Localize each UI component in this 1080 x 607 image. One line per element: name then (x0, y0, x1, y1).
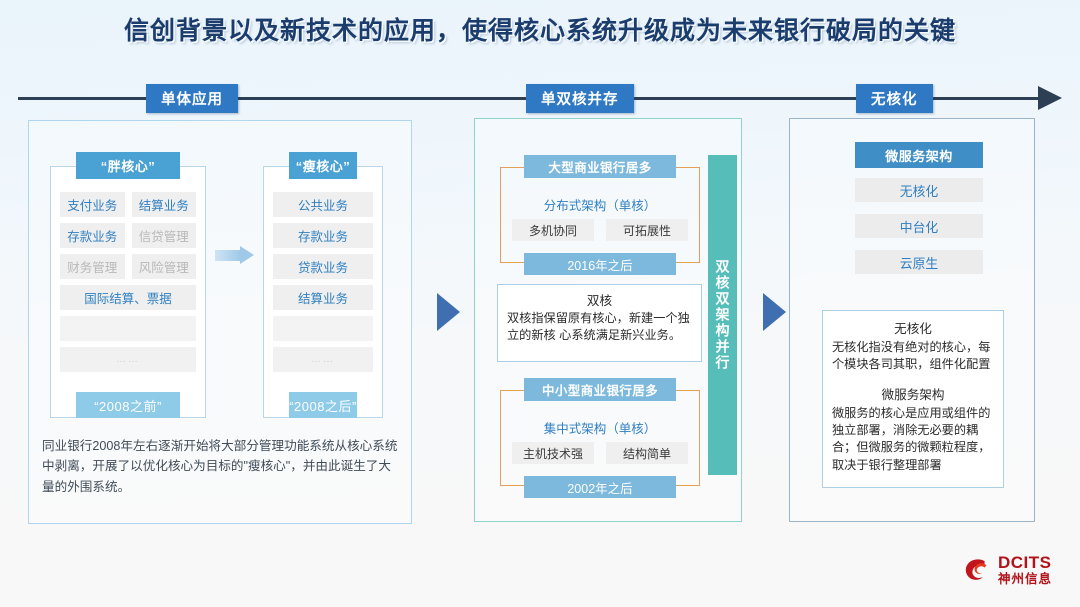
slide-title-bar: 信创背景以及新技术的应用，使得核心系统升级成为未来银行破局的关键 (0, 8, 1080, 50)
thin-core-row: 公共业务 (273, 192, 373, 217)
small-bank-subtitle: 集中式架构（单核） (500, 418, 700, 437)
thin-core-head: “瘦核心” (289, 152, 357, 179)
thin-core-cell: 公共业务 (273, 192, 373, 217)
fat-core-row: …… (60, 347, 196, 372)
no-core-note: 无核化 无核化指没有绝对的核心，每个模块各司其职，组件化配置 微服务架构 微服务… (822, 310, 1004, 488)
microservice-list: 无核化 中台化 云原生 (855, 178, 983, 274)
small-bank-pill: 主机技术强 (512, 442, 594, 464)
no-core-note-title: 无核化 (832, 318, 994, 337)
timeline-stage-3[interactable]: 无核化 (856, 84, 933, 113)
timeline-stage-2[interactable]: 单双核并存 (526, 84, 634, 113)
logo-text: DCITS 神州信息 (998, 554, 1052, 586)
logo-cn: 神州信息 (998, 573, 1052, 586)
large-bank-block: 大型商业银行居多 分布式架构（单核） 多机协同 可拓展性 2016年之后 (500, 155, 700, 275)
thin-core-body: 公共业务 存款业务 贷款业务 结算业务 …… (273, 192, 373, 372)
fat-core-row: 财务管理 风险管理 (60, 254, 196, 279)
thin-core-card: “瘦核心” 公共业务 存款业务 贷款业务 结算业务 …… “2008之后” (263, 152, 383, 418)
fat-core-head: “胖核心” (76, 152, 180, 179)
fat-to-thin-arrow-icon (215, 246, 255, 264)
page-title: 信创背景以及新技术的应用，使得核心系统升级成为未来银行破局的关键 (124, 11, 956, 47)
thin-core-foot: “2008之后” (289, 392, 357, 418)
dcits-swirl-icon (963, 555, 993, 585)
large-bank-head: 大型商业银行居多 (524, 155, 676, 178)
thin-core-row: 结算业务 (273, 285, 373, 310)
timeline: 单体应用 单双核并存 无核化 (18, 86, 1062, 112)
fat-core-cell: 结算业务 (132, 192, 197, 217)
thin-core-cell: 结算业务 (273, 285, 373, 310)
thin-core-cell-ellipsis: …… (273, 347, 373, 372)
thin-core-row: 贷款业务 (273, 254, 373, 279)
fat-core-cell-blank (60, 316, 196, 341)
list-item: 无核化 (855, 178, 983, 202)
small-bank-block: 中小型商业银行居多 集中式架构（单核） 主机技术强 结构简单 2002年之后 (500, 378, 700, 498)
thin-core-cell: 存款业务 (273, 223, 373, 248)
microservice-note-body: 微服务的核心是应用或组件的独立部署，消除无必要的耦合；但微服务的微颗粒程度，取决… (832, 405, 994, 474)
thin-core-row: 存款业务 (273, 223, 373, 248)
fat-core-row: 存款业务 信贷管理 (60, 223, 196, 248)
fat-core-row (60, 316, 196, 341)
large-bank-pill: 多机协同 (512, 219, 594, 241)
fat-core-cell: 国际结算、票据 (60, 285, 196, 310)
small-bank-head: 中小型商业银行居多 (524, 378, 676, 401)
large-bank-foot: 2016年之后 (524, 253, 676, 275)
timeline-arrow-icon (1038, 86, 1062, 110)
fat-core-card: “胖核心” 支付业务 结算业务 存款业务 信贷管理 财务管理 风险管理 国际结算… (50, 152, 206, 418)
dual-core-vertical-label: 双核双架构并行 (713, 259, 733, 371)
list-item: 中台化 (855, 214, 983, 238)
dual-core-note-title: 双核 (507, 290, 692, 309)
fat-core-cell: 风险管理 (132, 254, 197, 279)
thin-core-row (273, 316, 373, 341)
fat-core-row: 支付业务 结算业务 (60, 192, 196, 217)
dual-core-note-body: 双核指保留原有核心，新建一个独立的新核 心系统满足新兴业务。 (507, 310, 692, 344)
fat-core-foot: “2008之前” (76, 392, 180, 418)
fat-core-cell: 信贷管理 (132, 223, 197, 248)
logo-en: DCITS (998, 554, 1052, 571)
microservice-head: 微服务架构 (855, 142, 983, 168)
fat-core-cell: 存款业务 (60, 223, 125, 248)
dual-core-vertical-bar: 双核双架构并行 (708, 155, 737, 475)
fat-core-cell: 支付业务 (60, 192, 125, 217)
stage-1-to-2-arrow-icon (437, 293, 460, 331)
fat-core-cell-ellipsis: …… (60, 347, 196, 372)
thin-core-row: …… (273, 347, 373, 372)
list-item: 云原生 (855, 250, 983, 274)
dual-core-note: 双核 双核指保留原有核心，新建一个独立的新核 心系统满足新兴业务。 (497, 284, 702, 362)
small-bank-foot: 2002年之后 (524, 476, 676, 498)
company-logo: DCITS 神州信息 (963, 548, 1063, 592)
thin-core-cell-blank (273, 316, 373, 341)
fat-core-body: 支付业务 结算业务 存款业务 信贷管理 财务管理 风险管理 国际结算、票据 …… (60, 192, 196, 372)
small-bank-pill: 结构简单 (606, 442, 688, 464)
stage-2-to-3-arrow-icon (763, 293, 786, 331)
small-bank-pills: 主机技术强 结构简单 (512, 442, 688, 464)
stage-1-caption: 同业银行2008年左右逐渐开始将大部分管理功能系统从核心系统中剥离，开展了以优化… (42, 436, 398, 497)
fat-core-cell: 财务管理 (60, 254, 125, 279)
large-bank-pills: 多机协同 可拓展性 (512, 219, 688, 241)
no-core-note-body: 无核化指没有绝对的核心，每个模块各司其职，组件化配置 (832, 339, 994, 374)
fat-core-row: 国际结算、票据 (60, 285, 196, 310)
small-bank-frame (500, 390, 700, 486)
large-bank-pill: 可拓展性 (606, 219, 688, 241)
timeline-stage-1[interactable]: 单体应用 (146, 84, 238, 113)
large-bank-subtitle: 分布式架构（单核） (500, 195, 700, 214)
thin-core-cell: 贷款业务 (273, 254, 373, 279)
large-bank-frame (500, 167, 700, 263)
microservice-note-title: 微服务架构 (832, 384, 994, 403)
